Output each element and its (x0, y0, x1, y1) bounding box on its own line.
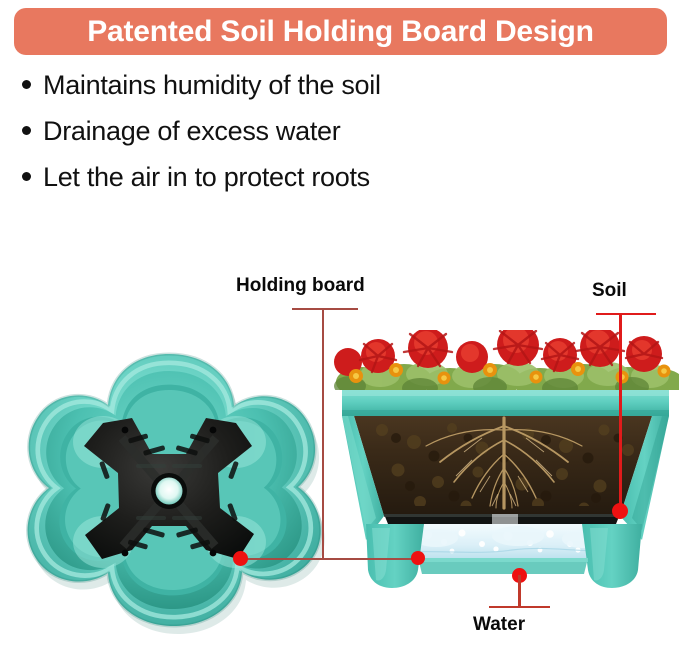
holding-board-leader-vertical (322, 308, 324, 559)
list-item: Maintains humidity of the soil (22, 70, 622, 116)
holding-board-leader-tbar (292, 308, 358, 310)
soil-leader-tbar (596, 313, 656, 315)
holding-board-marker-dot-left (233, 551, 248, 566)
feature-text: Maintains humidity of the soil (43, 70, 381, 101)
page-title: Patented Soil Holding Board Design (87, 15, 594, 49)
feature-text: Drainage of excess water (43, 116, 340, 147)
callout-label-soil: Soil (592, 280, 627, 302)
feature-text: Let the air in to protect roots (43, 162, 370, 193)
soil-mass (354, 416, 652, 516)
holding-board-plate (384, 514, 620, 525)
header-banner: Patented Soil Holding Board Design (14, 8, 667, 55)
list-item: Let the air in to protect roots (22, 162, 622, 208)
plant-foliage (334, 324, 679, 398)
list-item: Drainage of excess water (22, 116, 622, 162)
bullet-dot-icon (22, 172, 31, 181)
water-leader-tbar (489, 606, 550, 608)
holding-board-leader-horizontal-left (240, 558, 324, 560)
feature-list: Maintains humidity of the soil Drainage … (22, 70, 622, 208)
infographic-page: Patented Soil Holding Board Design Maint… (0, 0, 679, 646)
product-image-planter-cross-section (332, 330, 679, 610)
bullet-dot-icon (22, 80, 31, 89)
soil-leader-vertical (619, 313, 622, 510)
center-drainage-hole (151, 473, 187, 509)
bullet-dot-icon (22, 126, 31, 135)
product-image-clover-planter (10, 350, 328, 642)
soil-marker-dot (612, 503, 628, 519)
water-leader-vertical (518, 575, 521, 608)
holding-board-marker-dot-right (411, 551, 425, 565)
callout-label-holding-board: Holding board (236, 275, 365, 297)
callout-label-water: Water (473, 614, 525, 636)
holding-board-leader-horizontal-right (322, 558, 418, 560)
